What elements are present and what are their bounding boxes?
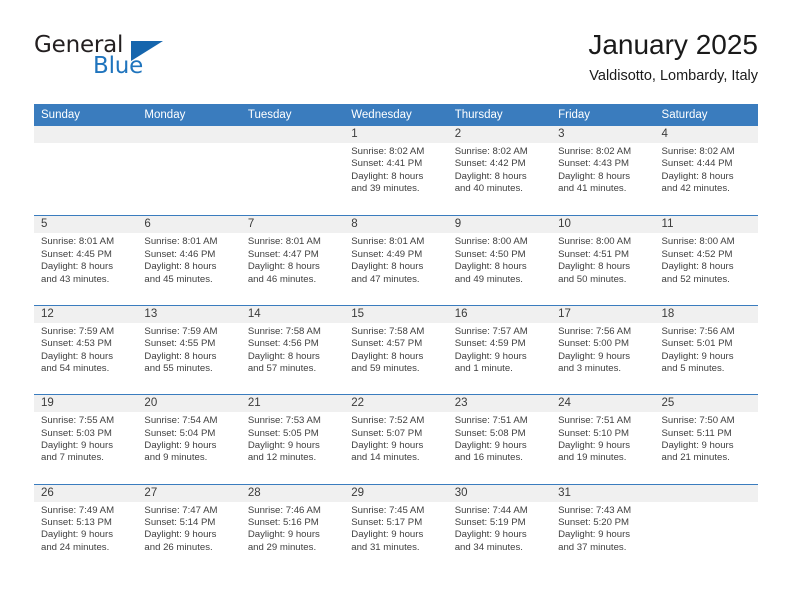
day-detail-line: Sunset: 5:00 PM	[558, 338, 648, 350]
day-number: 5	[34, 216, 137, 233]
day-details: Sunrise: 7:55 AMSunset: 5:03 PMDaylight:…	[34, 412, 137, 465]
calendar-day-cell[interactable]: 11Sunrise: 8:00 AMSunset: 4:52 PMDayligh…	[655, 216, 758, 304]
day-detail-line: Sunrise: 7:57 AM	[455, 326, 545, 338]
day-number: 20	[137, 395, 240, 412]
day-detail-line: Daylight: 9 hours	[662, 440, 752, 452]
weekday-header-row: Sunday Monday Tuesday Wednesday Thursday…	[34, 104, 758, 126]
day-detail-line: Sunrise: 8:00 AM	[455, 236, 545, 248]
calendar-day-cell[interactable]: 8Sunrise: 8:01 AMSunset: 4:49 PMDaylight…	[344, 216, 447, 304]
day-detail-line: Sunset: 4:41 PM	[351, 158, 441, 170]
day-detail-line: and 49 minutes.	[455, 274, 545, 286]
day-number: 3	[551, 126, 654, 143]
day-detail-line: and 41 minutes.	[558, 183, 648, 195]
general-blue-logo[interactable]: General Blue	[34, 32, 214, 88]
day-number: 29	[344, 485, 447, 502]
day-details: Sunrise: 8:02 AMSunset: 4:44 PMDaylight:…	[655, 143, 758, 196]
calendar-day-cell-empty	[34, 126, 137, 215]
day-detail-line: and 43 minutes.	[41, 274, 131, 286]
day-number	[655, 485, 758, 502]
calendar-day-cell[interactable]: 23Sunrise: 7:51 AMSunset: 5:08 PMDayligh…	[448, 395, 551, 483]
day-detail-line: Sunset: 5:08 PM	[455, 428, 545, 440]
day-detail-line: and 46 minutes.	[248, 274, 338, 286]
day-details	[655, 502, 758, 505]
day-detail-line: Daylight: 9 hours	[558, 440, 648, 452]
day-details: Sunrise: 7:49 AMSunset: 5:13 PMDaylight:…	[34, 502, 137, 555]
calendar-day-cell[interactable]: 26Sunrise: 7:49 AMSunset: 5:13 PMDayligh…	[34, 485, 137, 573]
calendar-day-cell-empty	[137, 126, 240, 215]
day-detail-line: and 24 minutes.	[41, 542, 131, 554]
day-detail-line: and 1 minute.	[455, 363, 545, 375]
day-detail-line: and 59 minutes.	[351, 363, 441, 375]
day-detail-line: Daylight: 9 hours	[248, 440, 338, 452]
day-details: Sunrise: 7:58 AMSunset: 4:57 PMDaylight:…	[344, 323, 447, 376]
day-detail-line: Daylight: 8 hours	[144, 261, 234, 273]
day-detail-line: Sunrise: 8:01 AM	[144, 236, 234, 248]
weekday-header-sunday: Sunday	[34, 104, 137, 126]
day-number: 10	[551, 216, 654, 233]
day-detail-line: Sunset: 5:04 PM	[144, 428, 234, 440]
calendar-day-cell[interactable]: 1Sunrise: 8:02 AMSunset: 4:41 PMDaylight…	[344, 126, 447, 215]
day-details: Sunrise: 7:59 AMSunset: 4:55 PMDaylight:…	[137, 323, 240, 376]
page-subtitle-location: Valdisotto, Lombardy, Italy	[588, 67, 758, 85]
day-detail-line: Daylight: 9 hours	[558, 351, 648, 363]
calendar-day-cell[interactable]: 21Sunrise: 7:53 AMSunset: 5:05 PMDayligh…	[241, 395, 344, 483]
day-detail-line: Sunset: 4:44 PM	[662, 158, 752, 170]
weekday-header-saturday: Saturday	[655, 104, 758, 126]
day-details: Sunrise: 7:52 AMSunset: 5:07 PMDaylight:…	[344, 412, 447, 465]
day-number: 23	[448, 395, 551, 412]
calendar-day-cell[interactable]: 30Sunrise: 7:44 AMSunset: 5:19 PMDayligh…	[448, 485, 551, 573]
day-detail-line: Daylight: 9 hours	[558, 529, 648, 541]
day-details: Sunrise: 8:00 AMSunset: 4:51 PMDaylight:…	[551, 233, 654, 286]
day-detail-line: Sunset: 4:56 PM	[248, 338, 338, 350]
day-detail-line: Sunset: 5:14 PM	[144, 517, 234, 529]
day-detail-line: and 39 minutes.	[351, 183, 441, 195]
day-detail-line: Daylight: 8 hours	[558, 261, 648, 273]
calendar-weeks: 1Sunrise: 8:02 AMSunset: 4:41 PMDaylight…	[34, 126, 758, 573]
day-detail-line: and 42 minutes.	[662, 183, 752, 195]
day-detail-line: Sunrise: 7:53 AM	[248, 415, 338, 427]
calendar-day-cell[interactable]: 12Sunrise: 7:59 AMSunset: 4:53 PMDayligh…	[34, 306, 137, 394]
day-details: Sunrise: 8:00 AMSunset: 4:52 PMDaylight:…	[655, 233, 758, 286]
day-details: Sunrise: 8:01 AMSunset: 4:45 PMDaylight:…	[34, 233, 137, 286]
day-details: Sunrise: 7:57 AMSunset: 4:59 PMDaylight:…	[448, 323, 551, 376]
day-number: 2	[448, 126, 551, 143]
day-number: 27	[137, 485, 240, 502]
day-detail-line: and 5 minutes.	[662, 363, 752, 375]
calendar-day-cell[interactable]: 31Sunrise: 7:43 AMSunset: 5:20 PMDayligh…	[551, 485, 654, 573]
day-detail-line: Daylight: 8 hours	[41, 261, 131, 273]
day-detail-line: Daylight: 8 hours	[41, 351, 131, 363]
day-detail-line: Sunrise: 7:59 AM	[41, 326, 131, 338]
day-detail-line: Sunset: 4:55 PM	[144, 338, 234, 350]
calendar-day-cell[interactable]: 19Sunrise: 7:55 AMSunset: 5:03 PMDayligh…	[34, 395, 137, 483]
day-details: Sunrise: 7:50 AMSunset: 5:11 PMDaylight:…	[655, 412, 758, 465]
day-detail-line: Daylight: 9 hours	[144, 440, 234, 452]
day-details: Sunrise: 7:53 AMSunset: 5:05 PMDaylight:…	[241, 412, 344, 465]
day-number: 6	[137, 216, 240, 233]
calendar-day-cell[interactable]: 29Sunrise: 7:45 AMSunset: 5:17 PMDayligh…	[344, 485, 447, 573]
day-details: Sunrise: 8:02 AMSunset: 4:43 PMDaylight:…	[551, 143, 654, 196]
day-detail-line: Sunrise: 7:51 AM	[558, 415, 648, 427]
day-number: 21	[241, 395, 344, 412]
calendar-day-cell[interactable]: 20Sunrise: 7:54 AMSunset: 5:04 PMDayligh…	[137, 395, 240, 483]
day-number: 26	[34, 485, 137, 502]
day-details: Sunrise: 8:02 AMSunset: 4:42 PMDaylight:…	[448, 143, 551, 196]
calendar-week-row: 1Sunrise: 8:02 AMSunset: 4:41 PMDaylight…	[34, 126, 758, 215]
calendar-day-cell[interactable]: 25Sunrise: 7:50 AMSunset: 5:11 PMDayligh…	[655, 395, 758, 483]
calendar-day-cell[interactable]: 7Sunrise: 8:01 AMSunset: 4:47 PMDaylight…	[241, 216, 344, 304]
day-details: Sunrise: 8:01 AMSunset: 4:49 PMDaylight:…	[344, 233, 447, 286]
day-details: Sunrise: 7:58 AMSunset: 4:56 PMDaylight:…	[241, 323, 344, 376]
title-block: January 2025 Valdisotto, Lombardy, Italy	[588, 28, 758, 85]
day-detail-line: Sunset: 5:16 PM	[248, 517, 338, 529]
day-detail-line: and 3 minutes.	[558, 363, 648, 375]
logo-text-blue: Blue	[93, 53, 143, 79]
day-detail-line: and 12 minutes.	[248, 452, 338, 464]
day-detail-line: Sunset: 4:51 PM	[558, 249, 648, 261]
day-detail-line: and 34 minutes.	[455, 542, 545, 554]
day-details: Sunrise: 7:56 AMSunset: 5:00 PMDaylight:…	[551, 323, 654, 376]
day-detail-line: Daylight: 9 hours	[455, 351, 545, 363]
day-details: Sunrise: 8:01 AMSunset: 4:46 PMDaylight:…	[137, 233, 240, 286]
calendar-day-cell[interactable]: 16Sunrise: 7:57 AMSunset: 4:59 PMDayligh…	[448, 306, 551, 394]
day-detail-line: Daylight: 8 hours	[248, 261, 338, 273]
day-detail-line: Sunset: 4:57 PM	[351, 338, 441, 350]
day-detail-line: Daylight: 9 hours	[248, 529, 338, 541]
day-number	[241, 126, 344, 143]
day-detail-line: Sunrise: 8:00 AM	[558, 236, 648, 248]
day-number: 12	[34, 306, 137, 323]
day-detail-line: Daylight: 9 hours	[144, 529, 234, 541]
day-details: Sunrise: 7:47 AMSunset: 5:14 PMDaylight:…	[137, 502, 240, 555]
calendar-day-cell[interactable]: 27Sunrise: 7:47 AMSunset: 5:14 PMDayligh…	[137, 485, 240, 573]
day-detail-line: Sunrise: 7:59 AM	[144, 326, 234, 338]
day-detail-line: Sunrise: 8:01 AM	[248, 236, 338, 248]
calendar-grid: Sunday Monday Tuesday Wednesday Thursday…	[34, 104, 758, 573]
day-detail-line: Sunset: 5:11 PM	[662, 428, 752, 440]
calendar-day-cell[interactable]: 5Sunrise: 8:01 AMSunset: 4:45 PMDaylight…	[34, 216, 137, 304]
day-number: 15	[344, 306, 447, 323]
day-detail-line: and 47 minutes.	[351, 274, 441, 286]
day-detail-line: Sunset: 4:49 PM	[351, 249, 441, 261]
day-number: 9	[448, 216, 551, 233]
calendar-week-row: 12Sunrise: 7:59 AMSunset: 4:53 PMDayligh…	[34, 305, 758, 394]
day-number: 8	[344, 216, 447, 233]
day-detail-line: Daylight: 8 hours	[351, 171, 441, 183]
calendar-day-cell[interactable]: 9Sunrise: 8:00 AMSunset: 4:50 PMDaylight…	[448, 216, 551, 304]
day-detail-line: Sunset: 5:10 PM	[558, 428, 648, 440]
weekday-header-friday: Friday	[551, 104, 654, 126]
calendar-day-cell[interactable]: 10Sunrise: 8:00 AMSunset: 4:51 PMDayligh…	[551, 216, 654, 304]
day-detail-line: and 45 minutes.	[144, 274, 234, 286]
day-detail-line: Sunset: 5:20 PM	[558, 517, 648, 529]
day-number	[34, 126, 137, 143]
calendar-day-cell[interactable]: 2Sunrise: 8:02 AMSunset: 4:42 PMDaylight…	[448, 126, 551, 215]
day-detail-line: and 50 minutes.	[558, 274, 648, 286]
day-detail-line: Sunrise: 8:01 AM	[41, 236, 131, 248]
day-detail-line: Sunrise: 8:02 AM	[558, 146, 648, 158]
day-number	[137, 126, 240, 143]
day-detail-line: and 21 minutes.	[662, 452, 752, 464]
day-detail-line: Sunset: 4:47 PM	[248, 249, 338, 261]
day-detail-line: Sunrise: 7:56 AM	[662, 326, 752, 338]
day-detail-line: Sunrise: 8:00 AM	[662, 236, 752, 248]
day-number: 14	[241, 306, 344, 323]
day-detail-line: and 9 minutes.	[144, 452, 234, 464]
weekday-header-thursday: Thursday	[448, 104, 551, 126]
day-detail-line: and 31 minutes.	[351, 542, 441, 554]
day-detail-line: Daylight: 8 hours	[455, 171, 545, 183]
weekday-header-wednesday: Wednesday	[344, 104, 447, 126]
day-details: Sunrise: 7:45 AMSunset: 5:17 PMDaylight:…	[344, 502, 447, 555]
page-header: General Blue January 2025 Valdisotto, Lo…	[34, 28, 758, 96]
calendar-day-cell[interactable]: 6Sunrise: 8:01 AMSunset: 4:46 PMDaylight…	[137, 216, 240, 304]
day-number: 22	[344, 395, 447, 412]
day-details: Sunrise: 8:02 AMSunset: 4:41 PMDaylight:…	[344, 143, 447, 196]
day-detail-line: Daylight: 9 hours	[41, 529, 131, 541]
day-detail-line: Sunrise: 7:46 AM	[248, 505, 338, 517]
day-detail-line: Sunrise: 7:51 AM	[455, 415, 545, 427]
day-number: 28	[241, 485, 344, 502]
day-detail-line: Sunrise: 7:45 AM	[351, 505, 441, 517]
day-number: 1	[344, 126, 447, 143]
day-details: Sunrise: 7:54 AMSunset: 5:04 PMDaylight:…	[137, 412, 240, 465]
day-detail-line: Sunrise: 8:02 AM	[351, 146, 441, 158]
day-details: Sunrise: 7:44 AMSunset: 5:19 PMDaylight:…	[448, 502, 551, 555]
day-detail-line: Sunset: 5:19 PM	[455, 517, 545, 529]
day-detail-line: Sunrise: 7:49 AM	[41, 505, 131, 517]
weekday-header-monday: Monday	[137, 104, 240, 126]
calendar-day-cell[interactable]: 17Sunrise: 7:56 AMSunset: 5:00 PMDayligh…	[551, 306, 654, 394]
day-detail-line: Sunrise: 7:52 AM	[351, 415, 441, 427]
calendar-week-row: 5Sunrise: 8:01 AMSunset: 4:45 PMDaylight…	[34, 215, 758, 304]
day-detail-line: and 26 minutes.	[144, 542, 234, 554]
day-detail-line: Daylight: 9 hours	[41, 440, 131, 452]
day-details	[34, 143, 137, 146]
day-detail-line: Sunrise: 7:56 AM	[558, 326, 648, 338]
day-detail-line: and 40 minutes.	[455, 183, 545, 195]
day-detail-line: and 7 minutes.	[41, 452, 131, 464]
day-details: Sunrise: 7:46 AMSunset: 5:16 PMDaylight:…	[241, 502, 344, 555]
day-detail-line: Sunrise: 7:44 AM	[455, 505, 545, 517]
calendar-day-cell[interactable]: 18Sunrise: 7:56 AMSunset: 5:01 PMDayligh…	[655, 306, 758, 394]
day-detail-line: Sunset: 5:05 PM	[248, 428, 338, 440]
calendar-week-row: 19Sunrise: 7:55 AMSunset: 5:03 PMDayligh…	[34, 394, 758, 483]
day-detail-line: Daylight: 9 hours	[662, 351, 752, 363]
day-detail-line: Sunrise: 7:58 AM	[248, 326, 338, 338]
day-detail-line: Sunset: 4:59 PM	[455, 338, 545, 350]
day-detail-line: and 57 minutes.	[248, 363, 338, 375]
day-number: 31	[551, 485, 654, 502]
day-detail-line: Sunset: 5:03 PM	[41, 428, 131, 440]
day-detail-line: Sunset: 4:52 PM	[662, 249, 752, 261]
day-detail-line: Daylight: 9 hours	[351, 529, 441, 541]
day-detail-line: Daylight: 8 hours	[662, 261, 752, 273]
calendar-page: General Blue January 2025 Valdisotto, Lo…	[0, 0, 792, 612]
calendar-day-cell[interactable]: 14Sunrise: 7:58 AMSunset: 4:56 PMDayligh…	[241, 306, 344, 394]
day-detail-line: and 52 minutes.	[662, 274, 752, 286]
day-details: Sunrise: 7:59 AMSunset: 4:53 PMDaylight:…	[34, 323, 137, 376]
day-detail-line: Sunset: 5:01 PM	[662, 338, 752, 350]
day-number: 30	[448, 485, 551, 502]
day-detail-line: Daylight: 9 hours	[455, 529, 545, 541]
day-detail-line: and 19 minutes.	[558, 452, 648, 464]
day-detail-line: and 16 minutes.	[455, 452, 545, 464]
calendar-day-cell-empty	[241, 126, 344, 215]
day-detail-line: Sunset: 5:07 PM	[351, 428, 441, 440]
day-detail-line: Sunrise: 7:58 AM	[351, 326, 441, 338]
day-detail-line: and 14 minutes.	[351, 452, 441, 464]
day-details: Sunrise: 7:56 AMSunset: 5:01 PMDaylight:…	[655, 323, 758, 376]
day-detail-line: and 37 minutes.	[558, 542, 648, 554]
day-detail-line: Sunrise: 8:02 AM	[455, 146, 545, 158]
day-details	[137, 143, 240, 146]
day-number: 25	[655, 395, 758, 412]
day-detail-line: Sunset: 5:17 PM	[351, 517, 441, 529]
calendar-week-row: 26Sunrise: 7:49 AMSunset: 5:13 PMDayligh…	[34, 484, 758, 573]
day-details: Sunrise: 8:01 AMSunset: 4:47 PMDaylight:…	[241, 233, 344, 286]
calendar-day-cell-empty	[655, 485, 758, 573]
day-detail-line: Sunrise: 8:01 AM	[351, 236, 441, 248]
day-detail-line: Sunset: 4:53 PM	[41, 338, 131, 350]
day-detail-line: Sunrise: 7:54 AM	[144, 415, 234, 427]
day-number: 16	[448, 306, 551, 323]
day-detail-line: Sunset: 4:42 PM	[455, 158, 545, 170]
day-detail-line: Sunset: 4:50 PM	[455, 249, 545, 261]
day-number: 7	[241, 216, 344, 233]
day-detail-line: Sunset: 4:43 PM	[558, 158, 648, 170]
day-number: 24	[551, 395, 654, 412]
page-title: January 2025	[588, 28, 758, 62]
day-detail-line: and 29 minutes.	[248, 542, 338, 554]
day-number: 18	[655, 306, 758, 323]
day-detail-line: Daylight: 9 hours	[351, 440, 441, 452]
day-details: Sunrise: 7:51 AMSunset: 5:10 PMDaylight:…	[551, 412, 654, 465]
calendar-day-cell[interactable]: 3Sunrise: 8:02 AMSunset: 4:43 PMDaylight…	[551, 126, 654, 215]
day-detail-line: Sunrise: 8:02 AM	[662, 146, 752, 158]
day-detail-line: Sunset: 5:13 PM	[41, 517, 131, 529]
day-detail-line: Daylight: 8 hours	[351, 351, 441, 363]
day-number: 19	[34, 395, 137, 412]
day-detail-line: Daylight: 9 hours	[455, 440, 545, 452]
calendar-day-cell[interactable]: 15Sunrise: 7:58 AMSunset: 4:57 PMDayligh…	[344, 306, 447, 394]
day-number: 4	[655, 126, 758, 143]
day-detail-line: and 54 minutes.	[41, 363, 131, 375]
day-number: 11	[655, 216, 758, 233]
day-detail-line: Daylight: 8 hours	[144, 351, 234, 363]
day-detail-line: Sunrise: 7:47 AM	[144, 505, 234, 517]
day-detail-line: Daylight: 8 hours	[248, 351, 338, 363]
day-detail-line: Daylight: 8 hours	[351, 261, 441, 273]
day-details: Sunrise: 7:51 AMSunset: 5:08 PMDaylight:…	[448, 412, 551, 465]
day-detail-line: Daylight: 8 hours	[662, 171, 752, 183]
day-detail-line: and 55 minutes.	[144, 363, 234, 375]
day-detail-line: Sunset: 4:45 PM	[41, 249, 131, 261]
day-details: Sunrise: 7:43 AMSunset: 5:20 PMDaylight:…	[551, 502, 654, 555]
day-detail-line: Sunrise: 7:43 AM	[558, 505, 648, 517]
day-details	[241, 143, 344, 146]
day-number: 13	[137, 306, 240, 323]
calendar-day-cell[interactable]: 28Sunrise: 7:46 AMSunset: 5:16 PMDayligh…	[241, 485, 344, 573]
day-detail-line: Daylight: 8 hours	[558, 171, 648, 183]
calendar-day-cell[interactable]: 24Sunrise: 7:51 AMSunset: 5:10 PMDayligh…	[551, 395, 654, 483]
day-detail-line: Daylight: 8 hours	[455, 261, 545, 273]
day-number: 17	[551, 306, 654, 323]
weekday-header-tuesday: Tuesday	[241, 104, 344, 126]
calendar-day-cell[interactable]: 4Sunrise: 8:02 AMSunset: 4:44 PMDaylight…	[655, 126, 758, 215]
calendar-day-cell[interactable]: 13Sunrise: 7:59 AMSunset: 4:55 PMDayligh…	[137, 306, 240, 394]
day-detail-line: Sunset: 4:46 PM	[144, 249, 234, 261]
day-detail-line: Sunrise: 7:50 AM	[662, 415, 752, 427]
day-detail-line: Sunrise: 7:55 AM	[41, 415, 131, 427]
calendar-day-cell[interactable]: 22Sunrise: 7:52 AMSunset: 5:07 PMDayligh…	[344, 395, 447, 483]
day-details: Sunrise: 8:00 AMSunset: 4:50 PMDaylight:…	[448, 233, 551, 286]
